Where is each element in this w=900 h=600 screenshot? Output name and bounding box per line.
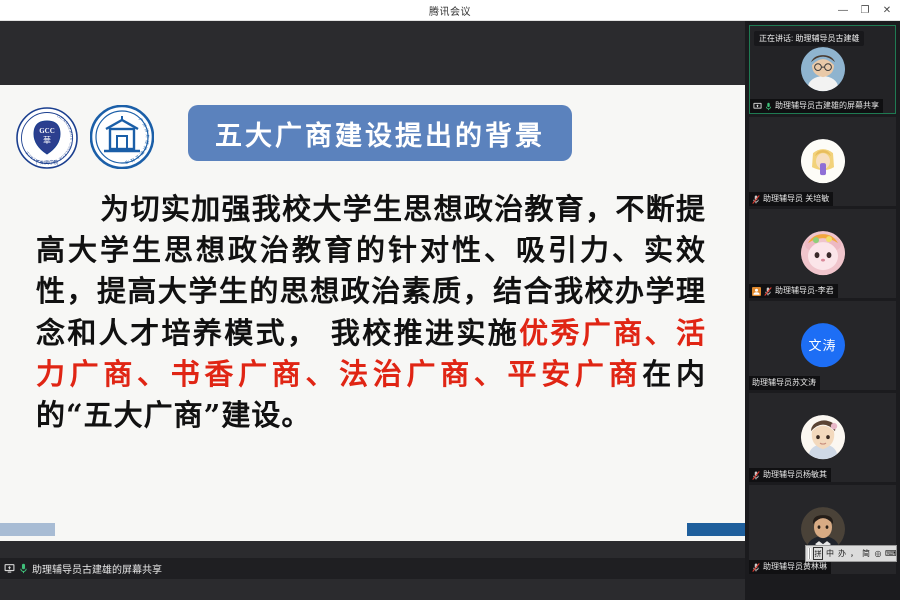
speaking-banner: 正在讲话: 助理辅导员古建雄 bbox=[754, 31, 864, 46]
participant-name: 助理辅导员黄林琳 bbox=[763, 563, 827, 571]
maximize-button[interactable]: ❐ bbox=[854, 1, 876, 21]
participant-tile-4[interactable]: 助理辅导员杨敏其 bbox=[749, 393, 896, 482]
participant-name: 助理辅导员杨敏其 bbox=[763, 471, 827, 479]
participant-name: 助理辅导员-李君 bbox=[775, 287, 834, 295]
ime-punctuation-toggle[interactable]: ， bbox=[849, 547, 859, 560]
ime-settings-icon[interactable]: ◎ bbox=[873, 547, 883, 560]
svg-text:GCC: GCC bbox=[39, 127, 55, 135]
speaking-banner-label: 正在讲话: 助理辅导员古建雄 bbox=[759, 35, 859, 43]
window-title: 腾讯会议 bbox=[429, 3, 471, 18]
tile-namebar: 助理辅导员杨敏其 bbox=[749, 468, 831, 482]
slide-title-plate: 五大广商建设提出的背景 bbox=[188, 105, 572, 161]
slide-title: 五大广商建设提出的背景 bbox=[215, 114, 545, 153]
slide-header: GUANGZHOU COLLEGE OF COMMERCE GCC 華 广州商学… bbox=[0, 85, 745, 180]
participant-rail[interactable]: 正在讲话: 助理辅导员古建雄 bbox=[745, 21, 900, 600]
ime-soft-keyboard-icon[interactable]: ⌨ bbox=[885, 547, 897, 560]
avatar-initials: 文涛 bbox=[801, 323, 845, 367]
share-status-bar: 助理辅导员古建雄的屏幕共享 bbox=[0, 558, 745, 579]
shared-screen-stage[interactable]: GUANGZHOU COLLEGE OF COMMERCE GCC 華 广州商学… bbox=[0, 21, 745, 579]
avatar bbox=[801, 139, 845, 183]
ime-mode-icon[interactable]: 办 bbox=[837, 547, 847, 560]
window-titlebar: 腾讯会议 — ❐ ✕ bbox=[0, 0, 900, 21]
host-icon bbox=[752, 287, 761, 296]
tile-namebar: 助理辅导员 关培敏 bbox=[749, 192, 833, 206]
participant-tile-2[interactable]: 助理辅导员-李君 bbox=[749, 209, 896, 298]
share-status-label: 助理辅导员古建雄的屏幕共享 bbox=[32, 561, 162, 576]
avatar bbox=[801, 47, 845, 91]
avatar bbox=[801, 415, 845, 459]
microphone-muted-icon bbox=[752, 195, 760, 204]
participant-name: 助理辅导员 关培敏 bbox=[763, 195, 829, 203]
microphone-muted-icon bbox=[752, 563, 760, 572]
microphone-muted-icon bbox=[764, 287, 772, 296]
screen-share-icon bbox=[4, 563, 15, 574]
participant-tile-3[interactable]: 文涛 助理辅导员苏文涛 bbox=[749, 301, 896, 390]
participant-tile-1[interactable]: 助理辅导员 关培敏 bbox=[749, 117, 896, 206]
presentation-slide: GUANGZHOU COLLEGE OF COMMERCE GCC 華 广州商学… bbox=[0, 85, 745, 541]
microphone-icon bbox=[765, 102, 772, 111]
ime-chinese-english-toggle[interactable]: 中 bbox=[825, 547, 835, 560]
close-button[interactable]: ✕ bbox=[876, 1, 898, 21]
slide-left-accent-bar bbox=[0, 523, 55, 536]
ime-simplified-traditional-toggle[interactable]: 简 bbox=[861, 547, 871, 560]
minimize-button[interactable]: — bbox=[832, 1, 854, 21]
svg-text:華: 華 bbox=[43, 135, 51, 145]
tile-namebar: 助理辅导员黄林琳 bbox=[749, 560, 831, 574]
participant-name: 助理辅导员古建雄的屏幕共享 bbox=[775, 102, 879, 110]
gcc-college-seal-logo: GUANGZHOU COLLEGE OF COMMERCE GCC 華 广州商学… bbox=[16, 107, 78, 169]
ime-language-bar[interactable]: 拼 中 办 ， 简 ◎ ⌨ bbox=[805, 545, 897, 562]
svg-text:广州商学院: 广州商学院 bbox=[36, 159, 59, 166]
participant-tile-0[interactable]: 正在讲话: 助理辅导员古建雄 bbox=[749, 25, 896, 114]
school-gate-seal-logo: 广州涉外经济职业技术 bbox=[90, 105, 154, 169]
tile-namebar: 助理辅导员苏文涛 bbox=[749, 376, 820, 390]
ime-drag-handle[interactable] bbox=[808, 548, 811, 559]
slide-body-text: 为切实加强我校大学生思想政治教育，不断提高大学生思想政治教育的针对性、吸引力、实… bbox=[36, 189, 706, 436]
microphone-icon bbox=[19, 563, 28, 574]
tencent-meeting-window: 腾讯会议 — ❐ ✕ GUANGZHOU COLLEGE OF COMMERCE bbox=[0, 0, 900, 600]
window-controls: — ❐ ✕ bbox=[832, 0, 898, 21]
slide-right-accent-bar bbox=[687, 523, 745, 536]
ime-input-method-icon[interactable]: 拼 bbox=[813, 547, 823, 560]
tile-namebar: 助理辅导员古建雄的屏幕共享 bbox=[750, 99, 883, 113]
tile-namebar: 助理辅导员-李君 bbox=[749, 284, 838, 298]
screen-share-icon bbox=[753, 102, 762, 111]
avatar bbox=[801, 231, 845, 275]
participant-name: 助理辅导员苏文涛 bbox=[752, 379, 816, 387]
microphone-muted-icon bbox=[752, 471, 760, 480]
